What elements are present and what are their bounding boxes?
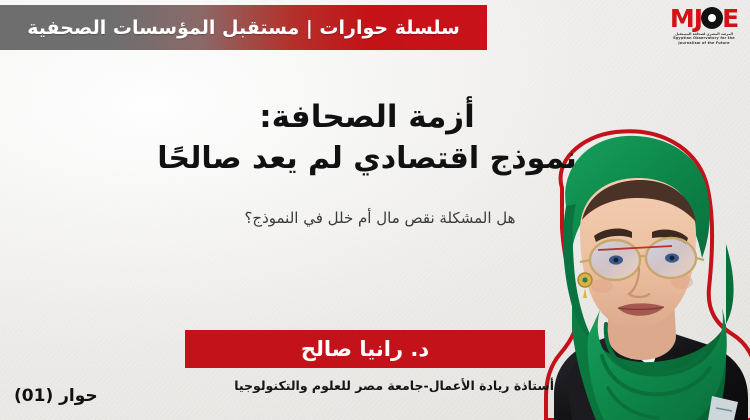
series-banner-text: سلسلة حوارات | مستقبل المؤسسات الصحفية	[27, 17, 460, 39]
speaker-name-banner: د. رانيا صالح	[185, 330, 545, 368]
logo-subtitle-english: Egyptian Observatory for the Journalism …	[670, 36, 738, 45]
logo-letter-m: M	[670, 6, 694, 31]
eojm-logo-subtitle: المرصد المصري لصحافة المستقبل Egyptian O…	[670, 32, 738, 45]
eojm-logo-mark: E J M	[670, 6, 738, 30]
eye-icon	[701, 7, 723, 29]
eojm-logo: E J M المرصد المصري لصحافة المستقبل Egyp…	[670, 6, 738, 46]
episode-label: حوار (01)	[14, 386, 98, 406]
headline-line-1: أزمة الصحافة:	[152, 96, 582, 138]
speaker-affiliation: أستاذة ريادة الأعمال-جامعة مصر للعلوم وا…	[185, 375, 560, 395]
headline-block: أزمة الصحافة: نموذج اقتصادي لم يعد صالحً…	[152, 96, 582, 180]
series-banner: سلسلة حوارات | مستقبل المؤسسات الصحفية	[0, 5, 487, 50]
poster-canvas: سلسلة حوارات | مستقبل المؤسسات الصحفية E…	[0, 0, 750, 420]
subheadline-text: هل المشكلة نقص مال أم خلل في النموذج؟	[215, 206, 545, 230]
logo-letter-e: E	[722, 6, 738, 31]
headline-line-2: نموذج اقتصادي لم يعد صالحًا	[152, 138, 582, 180]
speaker-affiliation-text: أستاذة ريادة الأعمال-جامعة مصر للعلوم وا…	[185, 378, 560, 393]
speaker-name: د. رانيا صالح	[301, 337, 429, 361]
